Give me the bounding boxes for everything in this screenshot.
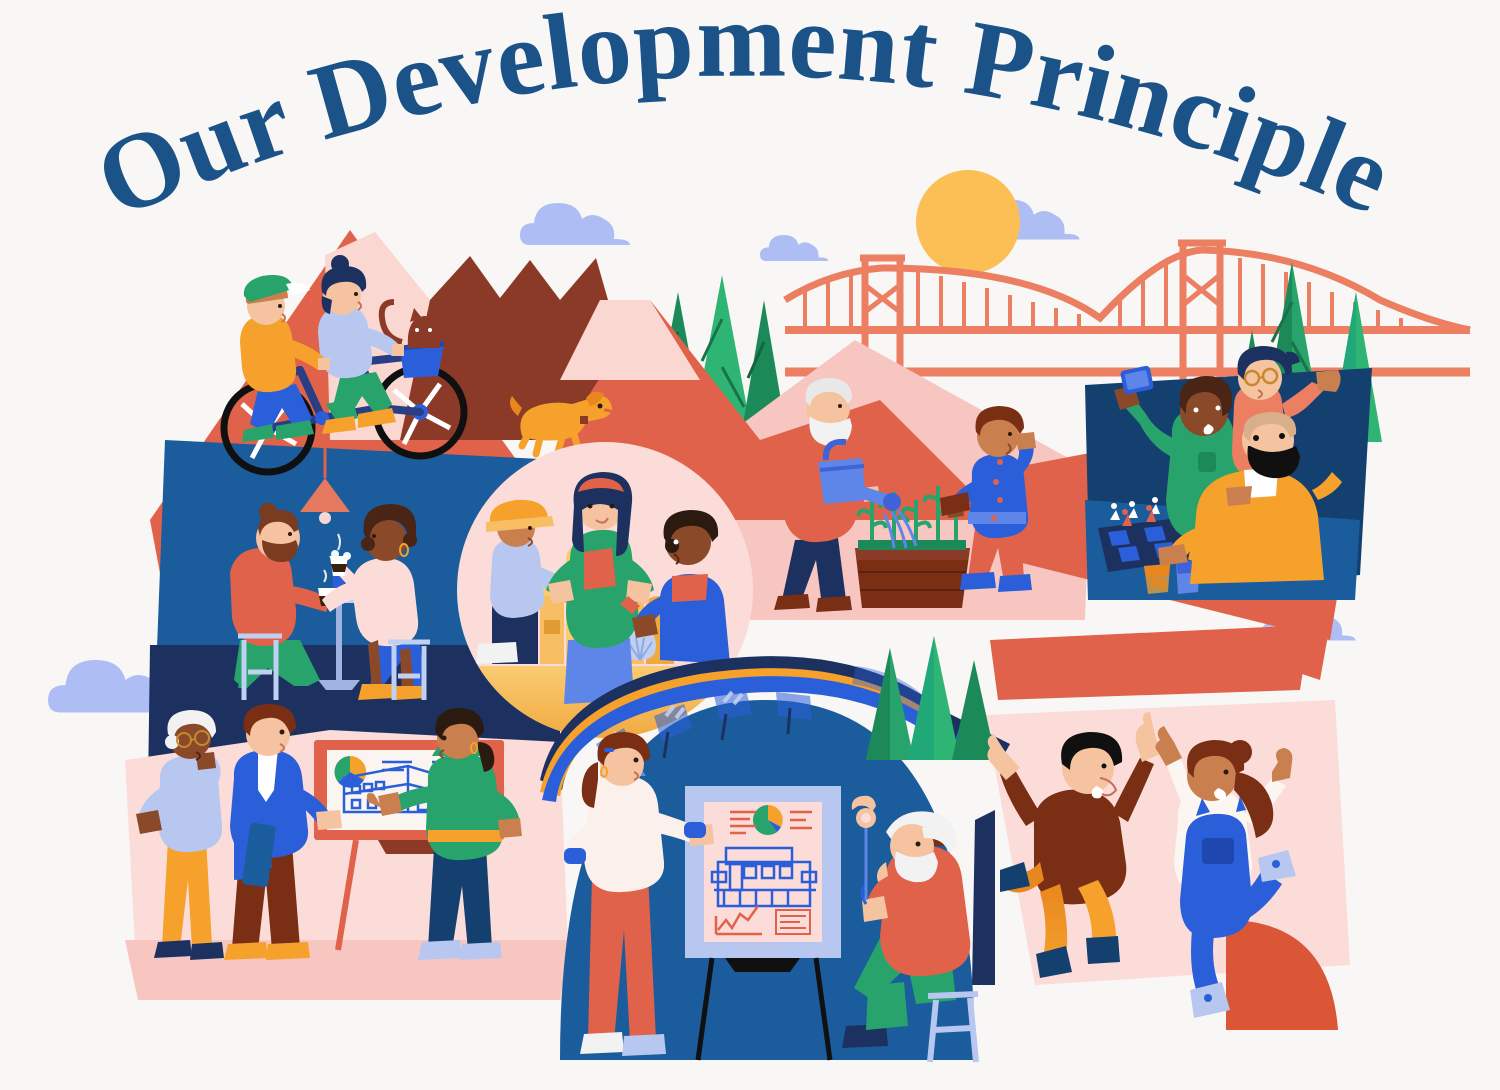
poster-canvas: Our Development Principles bbox=[0, 0, 1500, 1090]
panel-navy-left-edge bbox=[972, 810, 995, 985]
pie-chart-icon bbox=[334, 756, 366, 788]
illustration-artwork bbox=[0, 0, 1500, 1090]
sun-icon bbox=[916, 170, 1020, 274]
planter-box bbox=[855, 548, 970, 608]
pie-chart-icon bbox=[753, 805, 783, 835]
